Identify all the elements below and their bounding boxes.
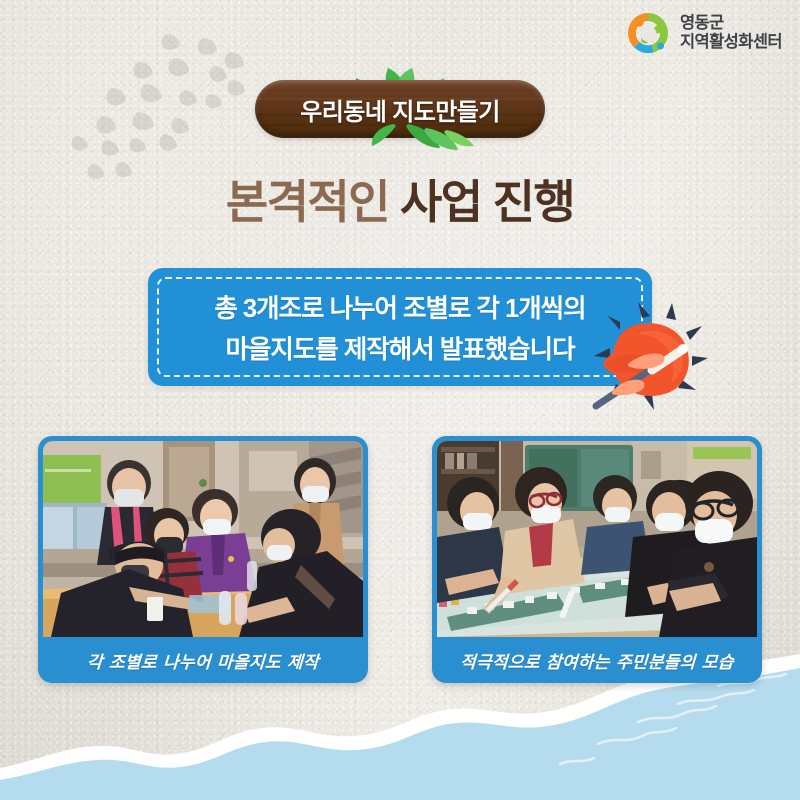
page-title: 본격적인 사업 진행 — [0, 166, 800, 232]
organization-logo: 영동군 지역활성화센터 — [623, 8, 782, 58]
headline-bold-part: 사업 진행 — [400, 176, 574, 228]
logo-text-block: 영동군 지역활성화센터 — [680, 14, 782, 52]
photo-image-right — [437, 441, 757, 637]
log-banner-container: 우리동네 지도만들기 — [0, 62, 800, 152]
photo-card-right: 적극적으로 참여하는 주민분들의 모습 — [432, 436, 762, 683]
message-callout-box: 총 3개조로 나누어 조별로 각 1개씩의 마을지도를 제작해서 발표했습니다 — [148, 268, 652, 386]
message-line-1: 총 3개조로 나누어 조별로 각 1개씩의 — [214, 288, 585, 325]
photo-caption-right: 적극적으로 참여하는 주민분들의 모습 — [436, 637, 758, 683]
headline-light-part: 본격적인 — [226, 176, 389, 228]
photo-caption-left: 각 조별로 나누어 마을지도 제작 — [42, 637, 364, 683]
logo-line-2: 지역활성화센터 — [680, 33, 782, 52]
photo-left-scene — [43, 441, 363, 637]
photo-card-left: 각 조별로 나누어 마을지도 제작 — [38, 436, 368, 683]
message-line-2: 마을지도를 제작해서 발표했습니다 — [225, 329, 574, 366]
photo-right-scene — [437, 441, 757, 637]
message-text-block: 총 3개조로 나누어 조별로 각 1개씩의 마을지도를 제작해서 발표했습니다 — [148, 268, 652, 386]
yeongdong-center-logo-icon — [623, 8, 673, 58]
hand-holding-pencil-illustration-icon — [586, 300, 712, 420]
promo-card: 영동군 지역활성화센터 우리동네 지도만들기 본격적인 사업 진행 — [0, 0, 800, 800]
logo-line-1: 영동군 — [680, 14, 782, 33]
photo-image-left — [43, 441, 363, 637]
